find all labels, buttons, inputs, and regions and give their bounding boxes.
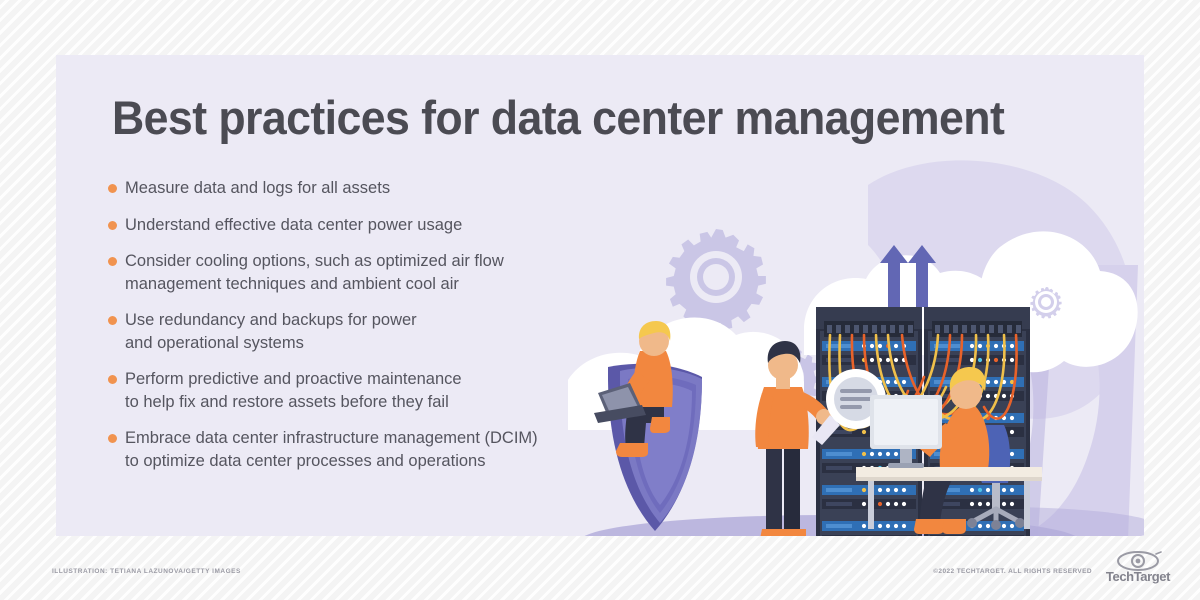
techtarget-wordmark: TechTarget [1101, 569, 1175, 584]
list-item: Embrace data center infrastructure manag… [108, 427, 628, 472]
gear-large-icon [666, 229, 766, 330]
copyright-notice: ©2022 TECHTARGET. ALL RIGHTS RESERVED [933, 568, 1092, 575]
bullet-dot-icon [108, 257, 117, 266]
eye-icon [1101, 551, 1175, 571]
list-item: Consider cooling options, such as optimi… [108, 250, 628, 295]
list-item-label: Measure data and logs for all assets [125, 177, 390, 200]
list-item-label: Consider cooling options, such as optimi… [125, 250, 504, 295]
list-item: Use redundancy and backups for power and… [108, 309, 628, 354]
bullet-dot-icon [108, 184, 117, 193]
list-item-label: Use redundancy and backups for power and… [125, 309, 417, 354]
illustration-credit: ILLUSTRATION: TETIANA LAZUNOVA/GETTY IMA… [52, 568, 241, 575]
bullet-dot-icon [108, 221, 117, 230]
techtarget-logo: TechTarget [1101, 551, 1175, 585]
list-item: Understand effective data center power u… [108, 214, 628, 237]
list-item: Measure data and logs for all assets [108, 177, 628, 200]
infographic-card: Best practices for data center managemen… [56, 55, 1144, 536]
list-item-label: Embrace data center infrastructure manag… [125, 427, 538, 472]
list-item-label: Perform predictive and proactive mainten… [125, 368, 462, 413]
list-item: Perform predictive and proactive mainten… [108, 368, 628, 413]
best-practices-list: Measure data and logs for all assets Und… [108, 177, 628, 486]
bullet-dot-icon [108, 316, 117, 325]
bullet-dot-icon [108, 375, 117, 384]
page-title: Best practices for data center managemen… [112, 91, 1004, 145]
bullet-dot-icon [108, 434, 117, 443]
data-center-illustration [568, 155, 1144, 536]
list-item-label: Understand effective data center power u… [125, 214, 462, 237]
